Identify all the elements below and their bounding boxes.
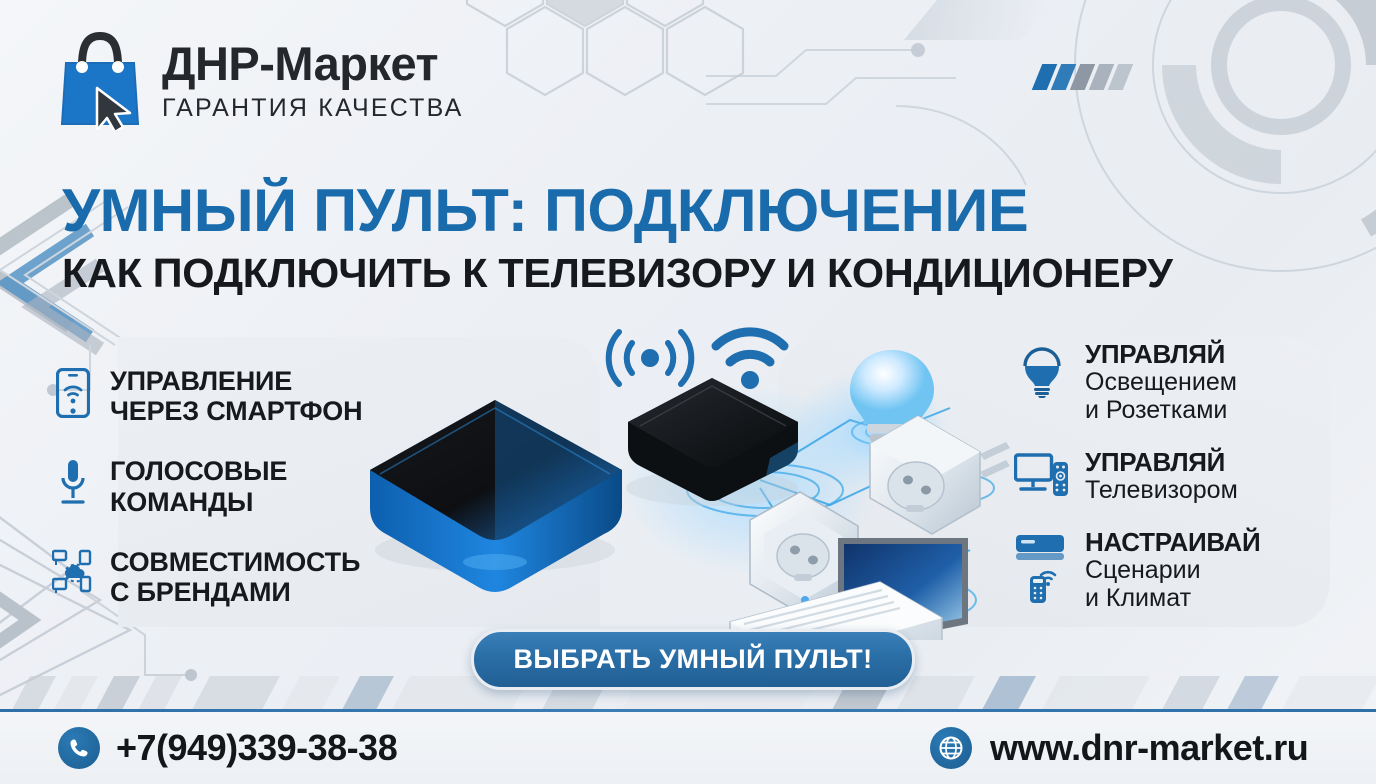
cta-label: ВЫБРАТЬ УМНЫЙ ПУЛЬТ!	[514, 644, 873, 675]
phone-number: +7(949)339-38-38	[116, 727, 397, 769]
headline-primary: УМНЫЙ ПУЛЬТ: ПОДКЛЮЧЕНИЕ	[62, 176, 1028, 245]
feature-item: НАСТРАИВАЙ Сценарии и Климат	[1013, 528, 1333, 612]
promo-banner: ДНР-Маркет ГАРАНТИЯ КАЧЕСТВА УМНЫЙ ПУЛЬТ…	[0, 0, 1376, 784]
feature-line-1: УПРАВЛЕНИЕ	[110, 366, 362, 396]
tv-remote-icon	[1013, 448, 1071, 498]
hud-dial-icon	[1066, 0, 1376, 280]
feature-line-1: СОВМЕСТИМОСТЬ	[110, 547, 360, 577]
feature-sub-1: Сценарии	[1085, 556, 1260, 584]
headline-secondary: КАК ПОДКЛЮЧИТЬ К ТЕЛЕВИЗОРУ И КОНДИЦИОНЕ…	[62, 250, 1173, 297]
lightbulb-icon	[1013, 340, 1071, 398]
feature-line-1: ГОЛОСОВЫЕ	[110, 456, 287, 486]
feature-line-2: С БРЕНДАМИ	[110, 577, 360, 607]
hexagon-pattern-icon	[430, 0, 850, 150]
feature-line-2: КОМАНДЫ	[110, 487, 287, 517]
brand-name: ДНР-Маркет	[162, 40, 464, 87]
shopping-bag-cursor-icon	[52, 30, 148, 130]
wifi-icon	[716, 332, 784, 389]
feature-item: ГОЛОСОВЫЕ КОМАНДЫ	[52, 456, 422, 516]
microphone-icon	[52, 456, 94, 506]
brand-logo: ДНР-Маркет ГАРАНТИЯ КАЧЕСТВА	[52, 30, 464, 130]
corner-wedge	[904, 0, 1054, 40]
feature-heading: УПРАВЛЯЙ	[1085, 448, 1238, 476]
feature-sub-1: Освещением	[1085, 368, 1237, 396]
feature-heading: НАСТРАИВАЙ	[1085, 528, 1260, 556]
left-feature-list: УПРАВЛЕНИЕ ЧЕРЕЗ СМАРТФОН ГОЛОСОВЫЕ КОМА…	[52, 366, 422, 637]
phone-contact[interactable]: +7(949)339-38-38	[58, 727, 397, 769]
smart-home-illustration	[330, 300, 1070, 640]
phone-icon	[58, 727, 100, 769]
circuit-lines-icon	[706, 20, 1126, 190]
slash-marks-icon	[1037, 64, 1167, 90]
website-url: www.dnr-market.ru	[990, 727, 1308, 769]
ir-signal-icon	[609, 332, 692, 384]
feature-item: УПРАВЛЕНИЕ ЧЕРЕЗ СМАРТФОН	[52, 366, 422, 426]
feature-item: СОВМЕСТИМОСТЬ С БРЕНДАМИ	[52, 547, 422, 607]
globe-icon	[930, 727, 972, 769]
air-conditioner-remote-icon	[1013, 528, 1071, 604]
feature-line-2: ЧЕРЕЗ СМАРТФОН	[110, 396, 362, 426]
smart-plug	[870, 416, 1010, 534]
feature-item: УПРАВЛЯЙ Телевизором	[1013, 448, 1333, 504]
feature-sub-2: и Климат	[1085, 584, 1260, 612]
website-link[interactable]: www.dnr-market.ru	[930, 727, 1308, 769]
devices-network-icon	[52, 547, 94, 595]
brand-tagline: ГАРАНТИЯ КАЧЕСТВА	[162, 96, 464, 121]
footer-bar: +7(949)339-38-38 www.dnr-market.ru	[0, 712, 1376, 784]
right-feature-list: УПРАВЛЯЙ Освещением и Розетками	[1013, 340, 1333, 636]
feature-item: УПРАВЛЯЙ Освещением и Розетками	[1013, 340, 1333, 424]
feature-sub-1: Телевизором	[1085, 476, 1238, 504]
feature-sub-2: и Розетками	[1085, 396, 1237, 424]
smartphone-wifi-icon	[52, 366, 94, 418]
feature-heading: УПРАВЛЯЙ	[1085, 340, 1237, 368]
cta-button[interactable]: ВЫБРАТЬ УМНЫЙ ПУЛЬТ!	[471, 629, 915, 690]
